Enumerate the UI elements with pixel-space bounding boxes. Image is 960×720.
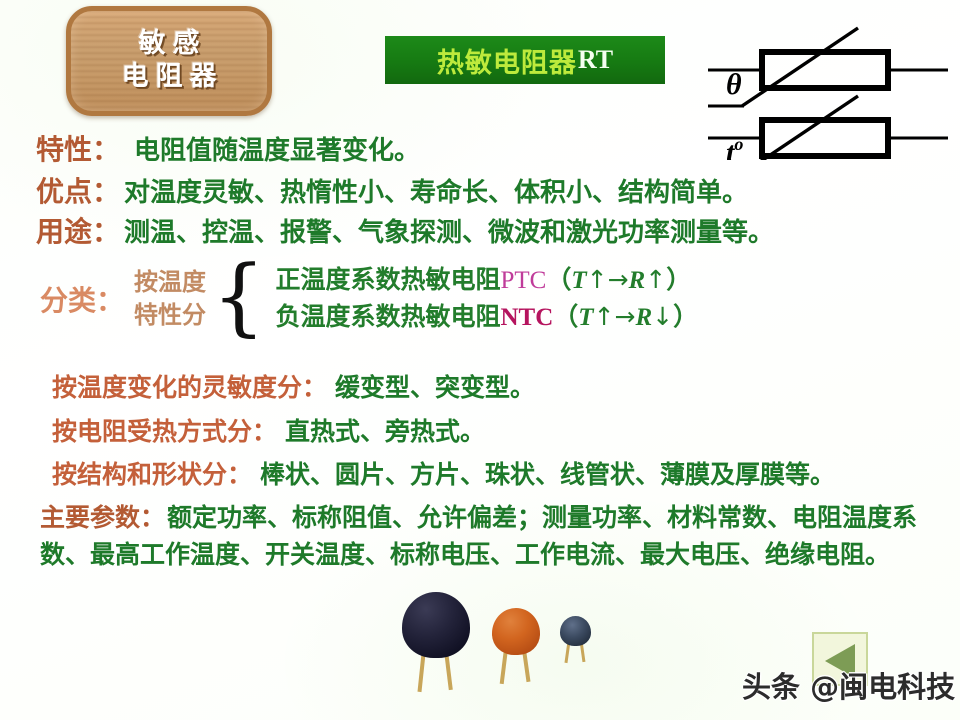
- value-uses: 测温、控温、报警、气象探测、微波和激光功率测量等。: [124, 212, 774, 249]
- classification-item-ntc: 负温度系数热敏电阻NTC（T↑→R↓）: [275, 302, 698, 331]
- value-main-parameters: 额定功率、标称阻值、允许偏差；测量功率、材料常数、电阻温度系数、最高工作温度、开…: [40, 503, 917, 569]
- label-sensitivity: 按温度变化的灵敏度分：: [52, 368, 327, 404]
- ptc-arrow-r: ↑: [645, 265, 666, 294]
- row-advantages: 优点： 对温度灵敏、热惰性小、寿命长、体积小、结构简单。: [36, 170, 748, 210]
- circuit-symbol-svg: θ to: [700, 20, 958, 160]
- wooden-plaque-title: 敏感 电阻器: [66, 6, 272, 116]
- row-sensitivity-classification: 按温度变化的灵敏度分： 缓变型、突变型。: [52, 368, 535, 404]
- ntc-implies: →: [615, 302, 636, 331]
- value-heating-mode: 直热式、旁热式。: [285, 412, 485, 448]
- label-advantages: 优点：: [36, 170, 120, 210]
- thermistor-body: [402, 592, 470, 658]
- classification-items: 正温度系数热敏电阻PTC（T↑→R↑） 负温度系数热敏电阻NTC（T↑→R↓）: [275, 262, 698, 335]
- green-title-banner: 热敏电阻器 RT: [385, 36, 665, 84]
- thermistor-photo-group: [402, 592, 614, 696]
- thermistor-body: [560, 616, 591, 646]
- ntc-arrow-t: ↑: [594, 302, 615, 331]
- row-structure-classification: 按结构和形状分： 棒状、圆片、方片、珠状、线管状、薄膜及厚膜等。: [52, 455, 835, 491]
- thermistor-body: [492, 608, 540, 655]
- ptc-abbr: PTC: [500, 267, 546, 294]
- value-structure-shape: 棒状、圆片、方片、珠状、线管状、薄膜及厚膜等。: [260, 455, 835, 491]
- classification-block: 分类： 按温度 特性分 { 正温度系数热敏电阻PTC（T↑→R↑） 负温度系数热…: [40, 262, 698, 335]
- criterion-line-1: 按温度: [134, 268, 206, 296]
- row-uses: 用途： 测温、控温、报警、气象探测、微波和激光功率测量等。: [36, 210, 774, 250]
- curly-brace: {: [212, 263, 265, 330]
- value-advantages: 对温度灵敏、热惰性小、寿命长、体积小、结构简单。: [124, 172, 748, 209]
- classification-item-ptc: 正温度系数热敏电阻PTC（T↑→R↑）: [275, 265, 691, 294]
- value-characteristics: 电阻值随温度显著变化。: [134, 130, 420, 167]
- label-structure-shape: 按结构和形状分：: [52, 455, 252, 491]
- label-heating-mode: 按电阻受热方式分：: [52, 412, 277, 448]
- watermark-text: 头条 @闽电科技: [742, 664, 955, 706]
- ntc-arrow-r: ↓: [652, 302, 673, 331]
- banner-title-cn: 热敏电阻器: [437, 41, 577, 80]
- ptc-arrow-t: ↑: [587, 265, 608, 294]
- label-characteristics: 特性：: [36, 128, 120, 168]
- ntc-paren-open: （: [553, 302, 578, 331]
- ntc-text: 负温度系数热敏电阻: [275, 302, 500, 331]
- ntc-paren-close: ）: [673, 302, 698, 331]
- main-parameters-block: 主要参数：额定功率、标称阻值、允许偏差；测量功率、材料常数、电阻温度系数、最高工…: [40, 500, 930, 573]
- ptc-paren-close: ）: [666, 265, 691, 294]
- criterion-line-2: 特性分: [134, 301, 206, 329]
- row-heating-classification: 按电阻受热方式分： 直热式、旁热式。: [52, 412, 485, 448]
- ptc-var-r: R: [629, 267, 646, 294]
- ntc-var-r: R: [635, 304, 652, 331]
- classification-criterion: 按温度 特性分: [134, 266, 206, 330]
- ptc-var-t: T: [571, 267, 586, 294]
- symbol-t-label: to: [726, 134, 743, 160]
- row-characteristics: 特性： 电阻值随温度显著变化。: [36, 128, 420, 168]
- value-sensitivity: 缓变型、突变型。: [335, 368, 535, 404]
- label-uses: 用途：: [36, 210, 120, 250]
- plaque-line-2: 电阻器: [115, 61, 224, 94]
- label-main-parameters: 主要参数：: [40, 503, 165, 532]
- banner-title-abbr: RT: [578, 45, 613, 75]
- label-classification: 分类：: [40, 279, 124, 319]
- ntc-var-t: T: [578, 304, 593, 331]
- plaque-line-1: 敏感: [132, 28, 207, 61]
- ntc-abbr: NTC: [500, 304, 553, 331]
- slide-canvas: 敏感 电阻器 热敏电阻器 RT θ to 特性： 电阻值随温度显著变化。: [0, 0, 960, 720]
- symbol-theta-label: θ: [726, 68, 742, 101]
- ptc-paren-open: （: [546, 265, 571, 294]
- thermistor-circuit-symbols: θ to: [700, 20, 958, 160]
- ptc-text: 正温度系数热敏电阻: [275, 265, 500, 294]
- ptc-implies: →: [608, 265, 629, 294]
